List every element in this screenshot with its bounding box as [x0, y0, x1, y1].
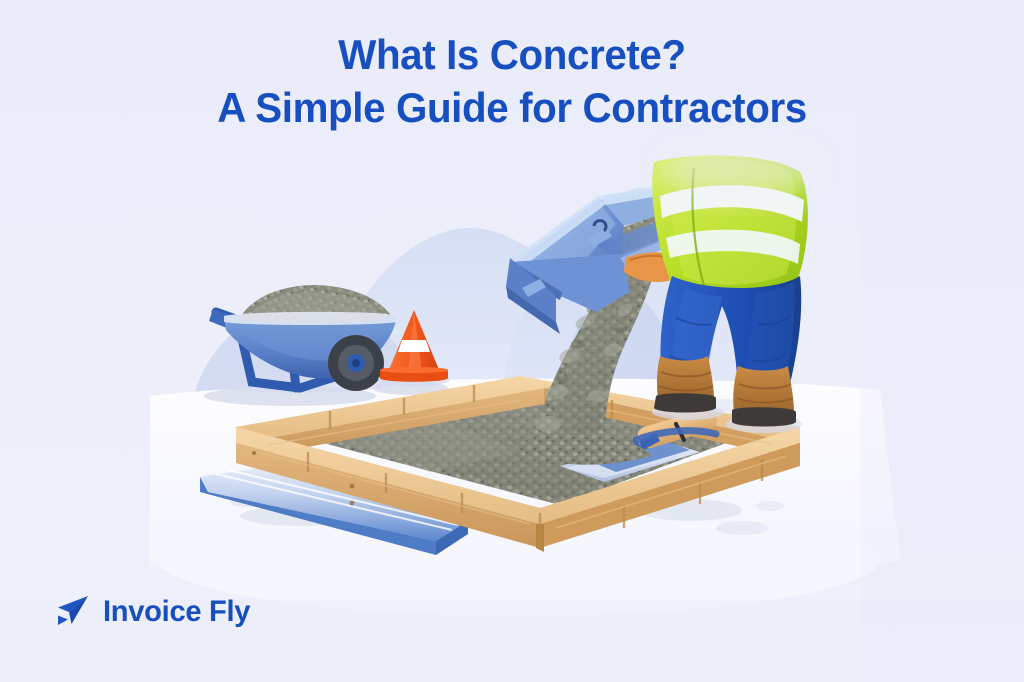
concrete-pour-illustration — [0, 0, 1024, 682]
poster-canvas: What Is Concrete? A Simple Guide for Con… — [0, 0, 1024, 682]
paper-plane-icon — [52, 592, 92, 632]
brand-logo[interactable]: Invoice Fly — [52, 592, 255, 632]
boot-right-sole — [732, 407, 796, 426]
wheelbarrow-wheel — [328, 335, 384, 391]
cone-stripe — [398, 340, 430, 352]
brand-name: Invoice Fly — [103, 595, 250, 629]
boot-left-sole — [654, 393, 716, 412]
